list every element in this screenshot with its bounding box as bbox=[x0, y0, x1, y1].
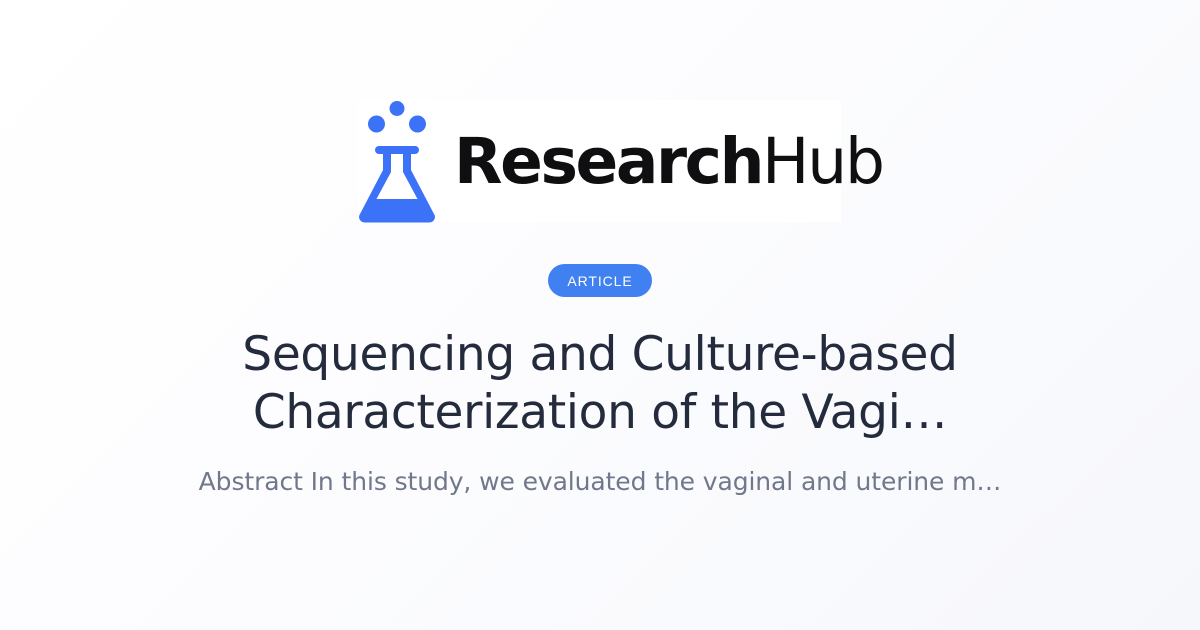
brand-name-light: Hub bbox=[762, 130, 883, 193]
brand-logo[interactable]: ResearchHub bbox=[358, 97, 842, 225]
preview-card: ResearchHub ARTICLE Sequencing and Cultu… bbox=[0, 0, 1200, 630]
page-title: Sequencing and Culture-based Characteriz… bbox=[0, 326, 1200, 442]
brand-wordmark: ResearchHub bbox=[454, 130, 883, 193]
badge-container: ARTICLE bbox=[0, 264, 1200, 297]
status-badge[interactable]: ARTICLE bbox=[548, 264, 651, 297]
page-subtitle: Abstract In this study, we evaluated the… bbox=[0, 465, 1200, 499]
flask-icon bbox=[358, 98, 436, 224]
brand-name-bold: Research bbox=[454, 130, 762, 193]
